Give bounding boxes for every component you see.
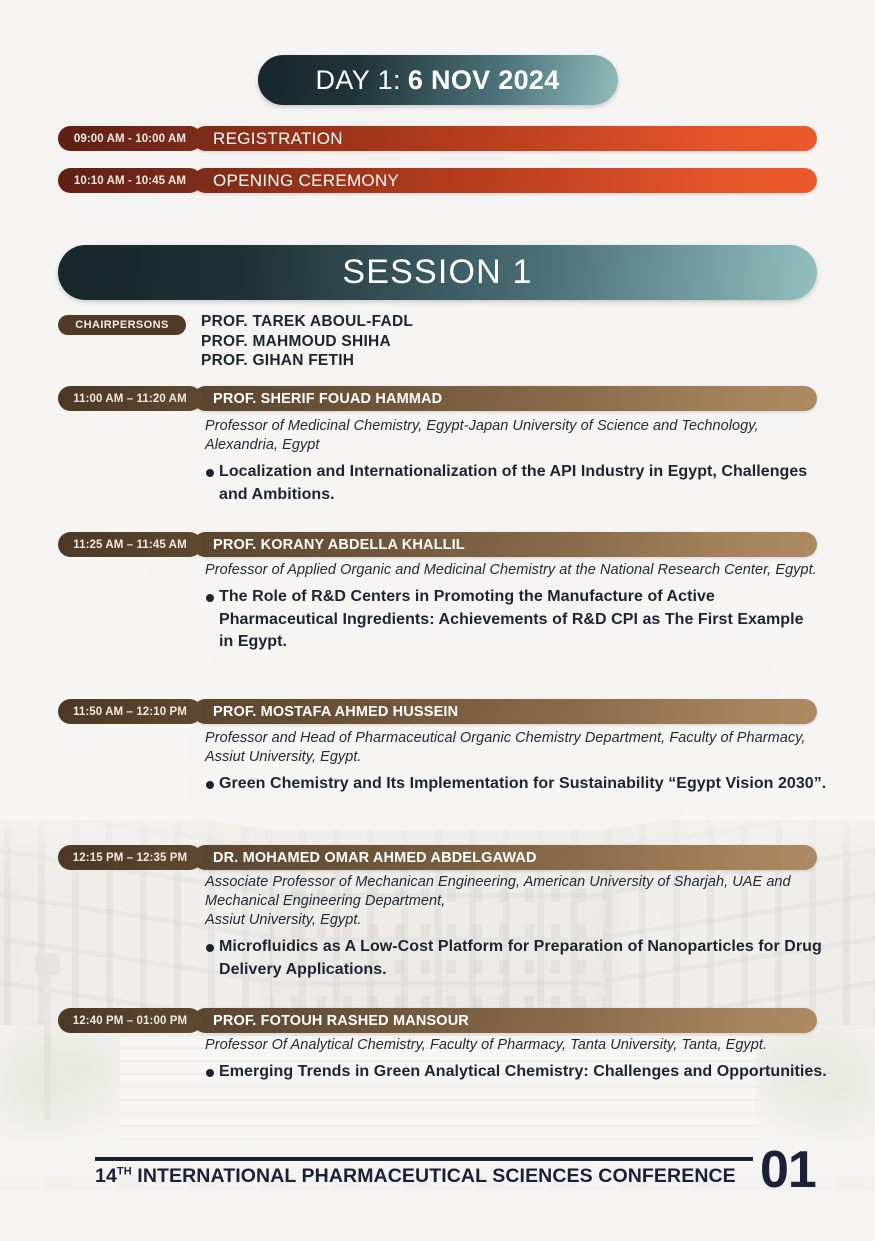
event-bar: REGISTRATION — [193, 126, 817, 151]
talk-item: Green Chemistry and Its Implementation f… — [205, 773, 830, 796]
talk-title: Green Chemistry and Its Implementation f… — [219, 773, 826, 796]
speaker-row: 12:15 PM – 12:35 PM DR. MOHAMED OMAR AHM… — [58, 845, 817, 870]
session-title: SESSION 1 — [342, 253, 532, 292]
session-banner: SESSION 1 — [58, 245, 817, 300]
day-label: DAY 1: — [315, 65, 400, 96]
footer-conference-name: 14TH INTERNATIONAL PHARMACEUTICAL SCIENC… — [95, 1165, 760, 1188]
footer-ordinal-suffix: TH — [117, 1166, 132, 1178]
speaker-affiliation: Professor of Applied Organic and Medicin… — [205, 561, 820, 580]
speaker-row: 11:00 AM – 11:20 AM PROF. SHERIF FOUAD H… — [58, 386, 817, 411]
time-badge: 12:40 PM – 01:00 PM — [58, 1008, 202, 1033]
talk-title: The Role of R&D Centers in Promoting the… — [219, 586, 820, 654]
event-title: OPENING CEREMONY — [213, 171, 399, 191]
speaker-name: PROF. SHERIF FOUAD HAMMAD — [213, 391, 442, 407]
time-badge: 10:10 AM - 10:45 AM — [58, 168, 202, 193]
speaker-row: 11:25 AM – 11:45 AM PROF. KORANY ABDELLA… — [58, 532, 817, 557]
speaker-name: DR. MOHAMED OMAR AHMED ABDELGAWAD — [213, 850, 537, 866]
conference-program-page: DAY 1: 6 NOV 2024 09:00 AM - 10:00 AM RE… — [0, 0, 875, 1241]
chairperson-name: PROF. MAHMOUD SHIHA — [201, 332, 413, 352]
bullet-icon — [206, 781, 214, 789]
time-badge: 09:00 AM - 10:00 AM — [58, 126, 202, 151]
day-date: 6 NOV 2024 — [408, 65, 560, 96]
speaker-bar: PROF. MOSTAFA AHMED HUSSEIN — [193, 699, 817, 724]
chairpersons-block: CHAIRPERSONS PROF. TAREK ABOUL-FADL PROF… — [58, 312, 818, 371]
speaker-name: PROF. KORANY ABDELLA KHALLIL — [213, 537, 465, 553]
footer-ordinal-number: 14 — [95, 1165, 117, 1187]
speaker-bar: PROF. SHERIF FOUAD HAMMAD — [193, 386, 817, 411]
chairperson-name: PROF. TAREK ABOUL-FADL — [201, 312, 413, 332]
chairpersons-badge: CHAIRPERSONS — [58, 315, 186, 335]
speaker-row: 12:40 PM – 01:00 PM PROF. FOTOUH RASHED … — [58, 1008, 817, 1033]
speaker-row: 11:50 AM – 12:10 PM PROF. MOSTAFA AHMED … — [58, 699, 817, 724]
speaker-name: PROF. FOTOUH RASHED MANSOUR — [213, 1013, 469, 1029]
speaker-affiliation: Associate Professor of Mechanican Engine… — [205, 873, 825, 930]
session-banner-wrapper: SESSION 1 — [58, 245, 817, 300]
schedule-row-registration: 09:00 AM - 10:00 AM REGISTRATION — [58, 126, 817, 151]
bullet-icon — [206, 594, 214, 602]
speaker-affiliation: Professor of Medicinal Chemistry, Egypt-… — [205, 417, 820, 455]
talk-item: Emerging Trends in Green Analytical Chem… — [205, 1061, 840, 1084]
speaker-detail: Professor of Medicinal Chemistry, Egypt-… — [205, 417, 820, 506]
talk-item: Localization and Internationalization of… — [205, 461, 820, 506]
day-banner-wrapper: DAY 1: 6 NOV 2024 — [0, 55, 875, 105]
time-badge: 11:50 AM – 12:10 PM — [58, 699, 202, 724]
event-title: REGISTRATION — [213, 129, 343, 149]
speaker-bar: PROF. FOTOUH RASHED MANSOUR — [193, 1008, 817, 1033]
speaker-affiliation: Professor Of Analytical Chemistry, Facul… — [205, 1036, 840, 1055]
speaker-bar: DR. MOHAMED OMAR AHMED ABDELGAWAD — [193, 845, 817, 870]
event-bar: OPENING CEREMONY — [193, 168, 817, 193]
schedule-row-opening-ceremony: 10:10 AM - 10:45 AM OPENING CEREMONY — [58, 168, 817, 193]
bullet-icon — [206, 469, 214, 477]
bullet-icon — [206, 1069, 214, 1077]
talk-title: Microfluidics as A Low-Cost Platform for… — [219, 936, 825, 981]
footer-divider — [95, 1157, 753, 1161]
speaker-detail: Professor of Applied Organic and Medicin… — [205, 561, 820, 654]
page-footer: 14TH INTERNATIONAL PHARMACEUTICAL SCIENC… — [0, 1150, 875, 1210]
talk-item: Microfluidics as A Low-Cost Platform for… — [205, 936, 825, 981]
talk-title: Emerging Trends in Green Analytical Chem… — [219, 1061, 827, 1084]
talk-title: Localization and Internationalization of… — [219, 461, 820, 506]
speaker-name: PROF. MOSTAFA AHMED HUSSEIN — [213, 704, 458, 720]
time-badge: 11:25 AM – 11:45 AM — [58, 532, 202, 557]
speaker-affiliation: Professor and Head of Pharmaceutical Org… — [205, 729, 830, 767]
speaker-detail: Professor and Head of Pharmaceutical Org… — [205, 729, 830, 796]
speaker-bar: PROF. KORANY ABDELLA KHALLIL — [193, 532, 817, 557]
time-badge: 11:00 AM – 11:20 AM — [58, 386, 202, 411]
speaker-detail: Professor Of Analytical Chemistry, Facul… — [205, 1036, 840, 1084]
chairpersons-names: PROF. TAREK ABOUL-FADL PROF. MAHMOUD SHI… — [201, 312, 413, 371]
talk-item: The Role of R&D Centers in Promoting the… — [205, 586, 820, 654]
speaker-detail: Associate Professor of Mechanican Engine… — [205, 873, 825, 981]
time-badge: 12:15 PM – 12:35 PM — [58, 845, 202, 870]
day-banner: DAY 1: 6 NOV 2024 — [258, 55, 618, 105]
chairperson-name: PROF. GIHAN FETIH — [201, 351, 413, 371]
bullet-icon — [206, 944, 214, 952]
footer-conference-title: INTERNATIONAL PHARMACEUTICAL SCIENCES CO… — [137, 1165, 736, 1187]
page-number: 01 — [760, 1144, 816, 1196]
